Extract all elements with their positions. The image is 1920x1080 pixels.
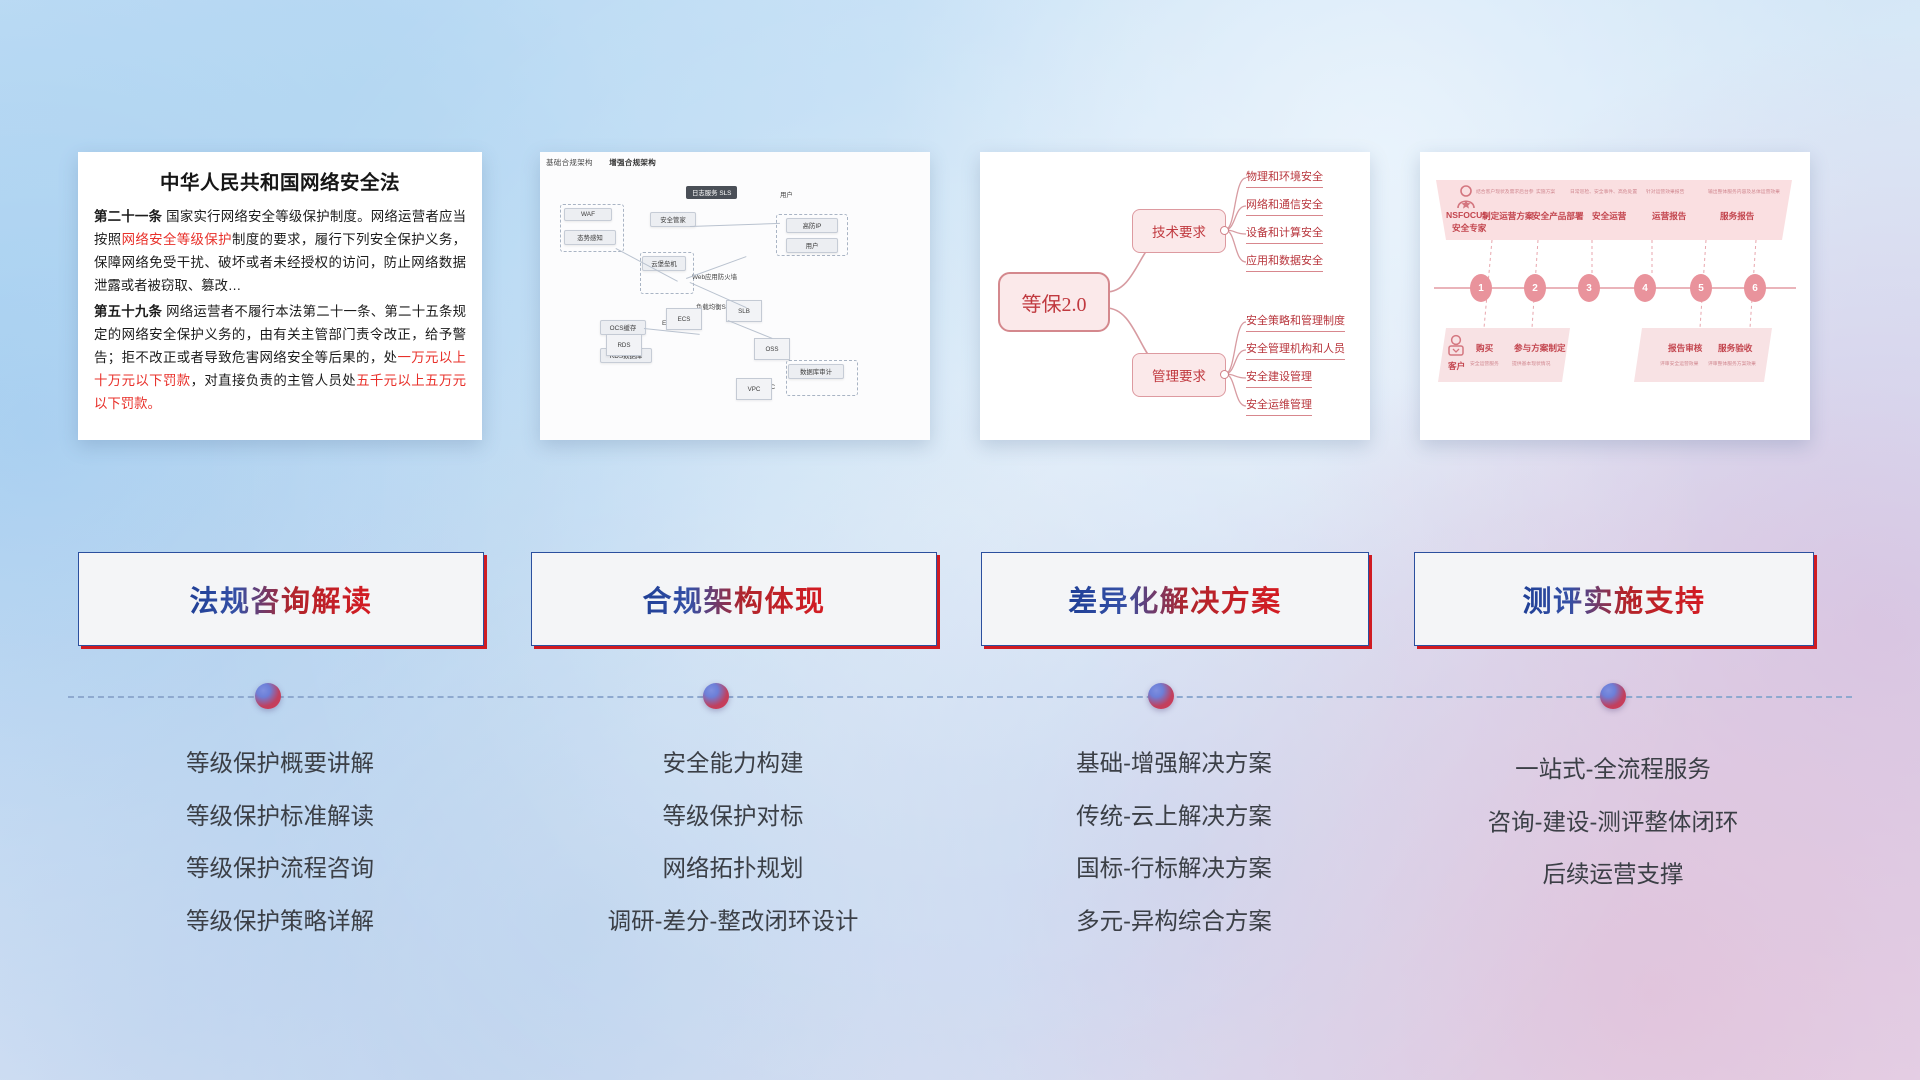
arch-node-ca: 高防IP xyxy=(786,218,838,233)
mindmap-card[interactable]: 等保2.0 技术要求 物理和环境安全 网络和通信安全 设备和计算安全 应用和数据… xyxy=(980,152,1370,440)
law-card[interactable]: 中华人民共和国网络安全法 第二十一条 国家实行网络安全等级保护制度。网络运营者应… xyxy=(78,152,482,440)
architecture-banner: 日志服务 SLS xyxy=(686,186,737,199)
rail-dot-2[interactable] xyxy=(703,683,729,709)
list-item: 等级保护策略详解 xyxy=(78,910,482,934)
top-step-2-sub: 日常巡检、安全事件、高危处置 xyxy=(1570,188,1637,195)
arch-hex-oss: OSS xyxy=(754,338,790,360)
mindmap-branch-technical: 技术要求 xyxy=(1132,209,1226,253)
mindmap-leaf-t1: 网络和通信安全 xyxy=(1246,196,1323,216)
top-step-2-title: 安全运营 xyxy=(1592,210,1626,222)
timeline-node-5[interactable]: 5 xyxy=(1690,274,1712,302)
top-step-4-sub: 输出整体服务内容及总体运营效果 xyxy=(1708,188,1780,195)
list-item: 等级保护对标 xyxy=(531,805,935,829)
arch-node-situational: 态势感知 xyxy=(564,230,616,245)
pillar-items-4: 一站式-全流程服务 咨询-建设-测评整体闭环 后续运营支撑 xyxy=(1414,758,1812,916)
list-item: 国标-行标解决方案 xyxy=(981,857,1367,881)
mindmap-leaf-m0: 安全策略和管理制度 xyxy=(1246,312,1345,332)
arch-link-5 xyxy=(728,320,773,339)
architecture-diagram: 基础合规架构 增强合规架构 日志服务 SLS WAF 态势感知 云堡垒机 安全管… xyxy=(540,152,930,440)
law-article-59-run-2: ，对直接负责的主管人员处 xyxy=(191,373,357,388)
pillar-items-3: 基础-增强解决方案 传统-云上解决方案 国标-行标解决方案 多元-异构综合方案 xyxy=(981,752,1367,962)
architecture-tab-basic[interactable]: 基础合规架构 xyxy=(546,158,593,167)
bottom-left-step-0-sub: 安全运营服务 xyxy=(1470,360,1499,367)
law-article-21-highlight: 网络安全等级保护 xyxy=(122,232,232,247)
top-step-3-sub: 针对运营效果报告 xyxy=(1646,188,1684,195)
bottom-left-step-0-title: 购买 xyxy=(1476,342,1493,354)
expert-label-line2: 安全专家 xyxy=(1452,222,1486,234)
arch-node-bastion: 云堡垒机 xyxy=(642,256,686,271)
timeline-node-6[interactable]: 6 xyxy=(1744,274,1766,302)
mindmap-leaf-m2: 安全建设管理 xyxy=(1246,368,1312,388)
top-step-0-sub: 结合客户现状及需求后台参 xyxy=(1476,188,1534,195)
mindmap-leaf-m1: 安全管理机构和人员 xyxy=(1246,340,1345,360)
law-card-title: 中华人民共和国网络安全法 xyxy=(94,166,466,195)
mindmap-leaf-t3: 应用和数据安全 xyxy=(1246,252,1323,272)
top-step-3-title: 运营报告 xyxy=(1652,210,1686,222)
pillar-title-box-1[interactable]: 法规咨询解读 xyxy=(78,552,484,646)
arch-node-antiddos: 用户 xyxy=(786,238,838,253)
list-item: 一站式-全流程服务 xyxy=(1414,758,1812,782)
timeline-rail xyxy=(68,696,1852,698)
list-item: 等级保护概要讲解 xyxy=(78,752,482,776)
rail-dot-1[interactable] xyxy=(255,683,281,709)
list-item: 等级保护标准解读 xyxy=(78,805,482,829)
top-step-1-sub: 实施方案 xyxy=(1536,188,1555,195)
pillar-title-box-3[interactable]: 差异化解决方案 xyxy=(981,552,1369,646)
list-item: 调研-差分-整改闭环设计 xyxy=(531,910,935,934)
arch-hex-rds: RDS xyxy=(606,334,642,356)
pillar-title-box-2[interactable]: 合规架构体现 xyxy=(531,552,937,646)
expert-avatar-icon xyxy=(1454,184,1478,210)
arch-node-db-audit: 数据库审计 xyxy=(788,364,844,379)
mindmap-core-node: 等保2.0 xyxy=(998,272,1110,332)
top-step-1-title: 安全产品部署 xyxy=(1532,210,1584,222)
mindmap-collapse-dot-management[interactable] xyxy=(1220,370,1229,379)
mindmap-leaf-m3: 安全运维管理 xyxy=(1246,396,1312,416)
arch-hex-slb: SLB xyxy=(726,300,762,322)
law-article-59: 第五十九条 网络运营者不履行本法第二十一条、第二十五条规定的网络安全保护义务的，… xyxy=(94,300,466,415)
list-item: 传统-云上解决方案 xyxy=(981,805,1367,829)
arch-node-waf: WAF xyxy=(564,208,612,221)
arch-hex-vpc: VPC xyxy=(736,378,772,400)
top-step-0-title: 制定运营方案 xyxy=(1482,210,1534,222)
rail-dot-3[interactable] xyxy=(1148,683,1174,709)
customer-label: 客户 xyxy=(1448,360,1465,372)
pillar-title-2: 合规架构体现 xyxy=(642,578,825,620)
law-card-body: 中华人民共和国网络安全法 第二十一条 国家实行网络安全等级保护制度。网络运营者应… xyxy=(78,152,482,440)
bottom-right-step-0-title: 报告审核 xyxy=(1668,342,1702,354)
law-article-59-number: 第五十九条 xyxy=(94,304,162,319)
list-item: 多元-异构综合方案 xyxy=(981,910,1367,934)
service-timeline-card[interactable]: NSFOCUS 安全专家 结合客户现状及需求后台参 制定运营方案 实施方案 安全… xyxy=(1420,152,1810,440)
list-item: 安全能力构建 xyxy=(531,752,935,776)
bottom-right-step-1-sub: 评审整体服务方案效果 xyxy=(1708,360,1756,367)
bottom-left-step-1-title: 参与方案制定 xyxy=(1514,342,1566,354)
bottom-left-step-1-sub: 提供基本现状情况 xyxy=(1512,360,1550,367)
list-item: 基础-增强解决方案 xyxy=(981,752,1367,776)
timeline-node-4[interactable]: 4 xyxy=(1634,274,1656,302)
top-step-4-title: 服务报告 xyxy=(1720,210,1754,222)
architecture-tabs[interactable]: 基础合规架构 增强合规架构 xyxy=(546,157,670,168)
list-item: 后续运营支撑 xyxy=(1414,863,1812,887)
pillar-title-box-4[interactable]: 测评实施支持 xyxy=(1414,552,1814,646)
pillar-items-2: 安全能力构建 等级保护对标 网络拓扑规划 调研-差分-整改闭环设计 xyxy=(531,752,935,962)
list-item: 网络拓扑规划 xyxy=(531,857,935,881)
mindmap-diagram: 等保2.0 技术要求 物理和环境安全 网络和通信安全 设备和计算安全 应用和数据… xyxy=(980,152,1370,440)
slide-stage: 中华人民共和国网络安全法 第二十一条 国家实行网络安全等级保护制度。网络运营者应… xyxy=(0,0,1920,1080)
timeline-node-2[interactable]: 2 xyxy=(1524,274,1546,302)
mindmap-branch-management: 管理要求 xyxy=(1132,353,1226,397)
mindmap-leaf-t0: 物理和环境安全 xyxy=(1246,168,1323,188)
arch-link-6 xyxy=(690,223,780,227)
arch-label-user: 用户 xyxy=(780,190,793,199)
bottom-right-step-0-sub: 评审安全运营效果 xyxy=(1660,360,1698,367)
bottom-right-step-1-title: 服务验收 xyxy=(1718,342,1752,354)
pillar-title-4: 测评实施支持 xyxy=(1522,578,1705,620)
arch-node-oos: OCS缓存 xyxy=(600,320,646,335)
mindmap-collapse-dot-technical[interactable] xyxy=(1220,226,1229,235)
timeline-node-1[interactable]: 1 xyxy=(1470,274,1492,302)
arch-node-guard: 安全管家 xyxy=(650,212,696,227)
timeline-node-3[interactable]: 3 xyxy=(1578,274,1600,302)
pillar-items-1: 等级保护概要讲解 等级保护标准解读 等级保护流程咨询 等级保护策略详解 xyxy=(78,752,482,962)
customer-avatar-icon xyxy=(1446,334,1466,358)
law-article-21: 第二十一条 国家实行网络安全等级保护制度。网络运营者应当按照网络安全等级保护制度… xyxy=(94,205,466,297)
mindmap-leaf-t2: 设备和计算安全 xyxy=(1246,224,1323,244)
pillar-title-3: 差异化解决方案 xyxy=(1068,578,1282,620)
list-item: 咨询-建设-测评整体闭环 xyxy=(1414,811,1812,835)
pillar-title-1: 法规咨询解读 xyxy=(189,578,372,620)
law-article-21-number: 第二十一条 xyxy=(94,209,162,224)
service-timeline-diagram: NSFOCUS 安全专家 结合客户现状及需求后台参 制定运营方案 实施方案 安全… xyxy=(1420,152,1810,440)
rail-dot-4[interactable] xyxy=(1600,683,1626,709)
list-item: 等级保护流程咨询 xyxy=(78,857,482,881)
architecture-card[interactable]: 基础合规架构 增强合规架构 日志服务 SLS WAF 态势感知 云堡垒机 安全管… xyxy=(540,152,930,440)
architecture-tab-enhanced[interactable]: 增强合规架构 xyxy=(609,158,656,167)
arch-hex-ecs: ECS xyxy=(666,308,702,330)
